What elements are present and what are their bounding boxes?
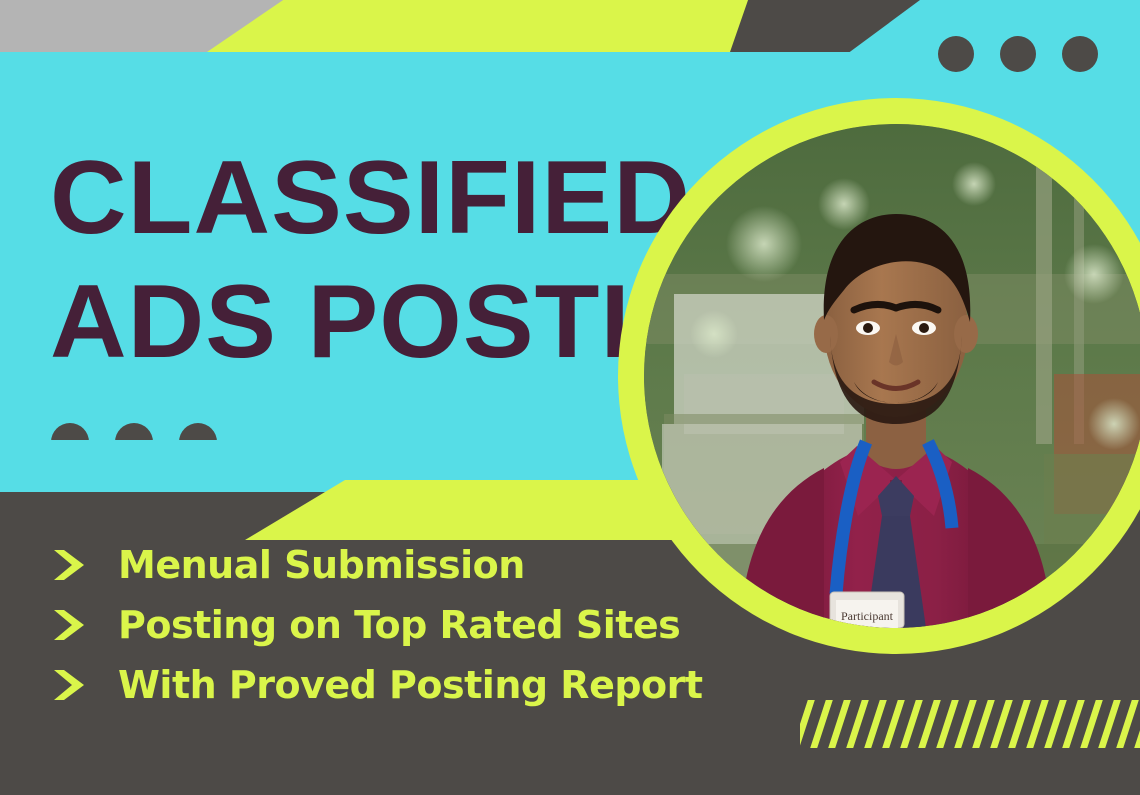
feature-list: Menual Submission Posting on Top Rated S… xyxy=(52,546,703,704)
chevron-right-icon xyxy=(52,548,92,582)
list-item-label: Menual Submission xyxy=(118,546,525,584)
top-band-dark-shape xyxy=(730,0,920,52)
list-item: Menual Submission xyxy=(52,546,703,584)
list-item: Posting on Top Rated Sites xyxy=(52,606,703,644)
slash-decor xyxy=(800,700,1140,760)
list-item-label: Posting on Top Rated Sites xyxy=(118,606,680,644)
dot-icon xyxy=(938,36,974,72)
dot-icon xyxy=(1000,36,1036,72)
top-right-dots xyxy=(938,36,1098,72)
chevron-right-icon xyxy=(52,608,92,642)
list-item-label: With Proved Posting Report xyxy=(118,666,703,704)
chevron-right-icon xyxy=(52,668,92,702)
dot-icon xyxy=(1062,36,1098,72)
poster-canvas: CLASSIFIED ADS POSTING xyxy=(0,0,1140,795)
svg-text:Participant: Participant xyxy=(841,609,894,623)
portrait-photo: Participant xyxy=(644,124,1140,628)
list-item: With Proved Posting Report xyxy=(52,666,703,704)
